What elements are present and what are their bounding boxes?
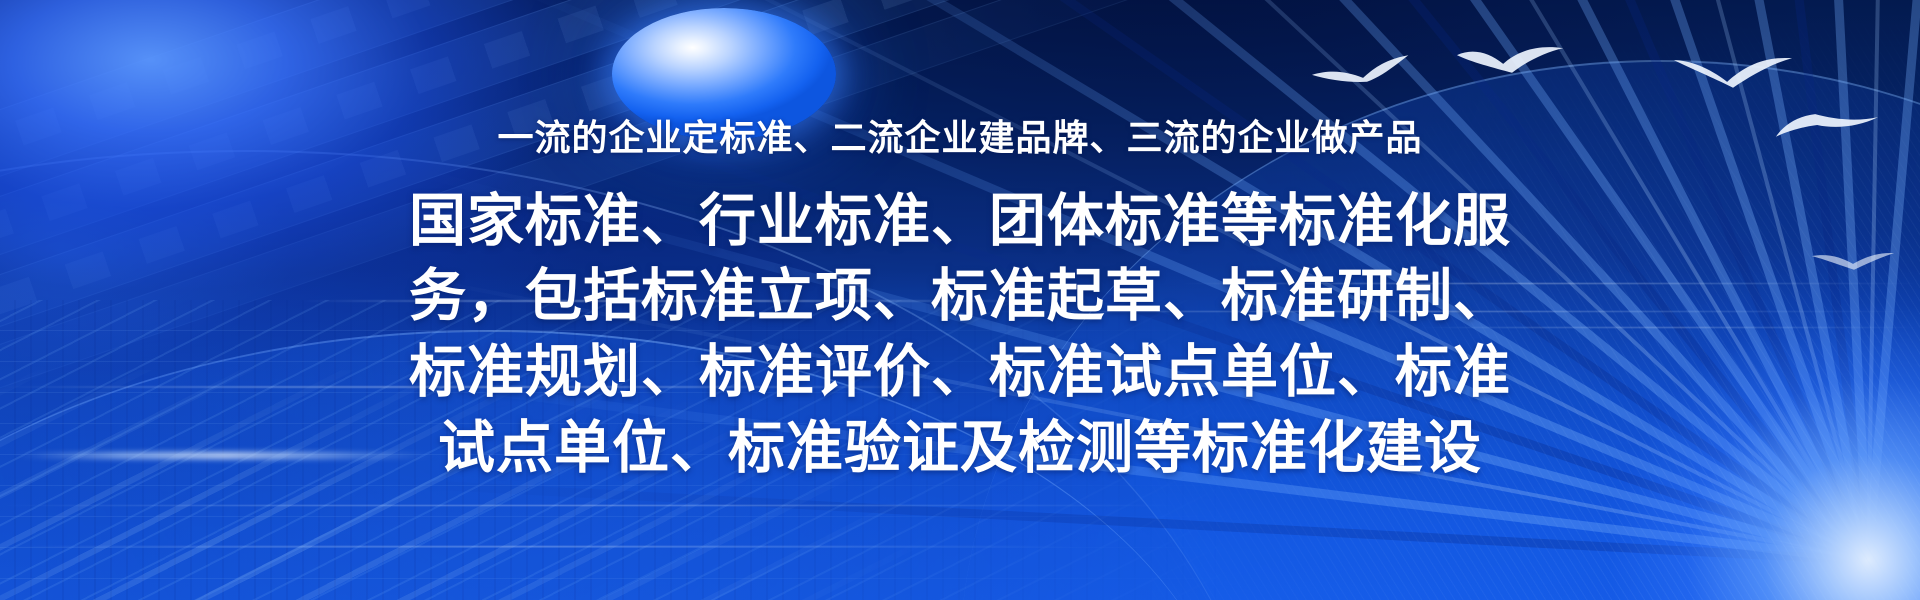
- banner-headline: 一流的企业定标准、二流企业建品牌、三流的企业做产品: [497, 118, 1422, 158]
- banner-content: 一流的企业定标准、二流企业建品牌、三流的企业做产品 国家标准、行业标准、团体标准…: [0, 0, 1920, 600]
- banner-body-block: 国家标准、行业标准、团体标准等标准化服 务，包括标准立项、标准起草、标准研制、 …: [335, 184, 1585, 487]
- tech-banner: 一流的企业定标准、二流企业建品牌、三流的企业做产品 国家标准、行业标准、团体标准…: [0, 0, 1920, 600]
- banner-body-line-1: 国家标准、行业标准、团体标准等标准化服: [335, 184, 1585, 260]
- banner-body-line-2: 务，包括标准立项、标准起草、标准研制、: [335, 259, 1585, 335]
- banner-body-line-3: 标准规划、标准评价、标准试点单位、标准: [335, 335, 1585, 411]
- banner-body-line-4: 试点单位、标准验证及检测等标准化建设: [335, 411, 1585, 487]
